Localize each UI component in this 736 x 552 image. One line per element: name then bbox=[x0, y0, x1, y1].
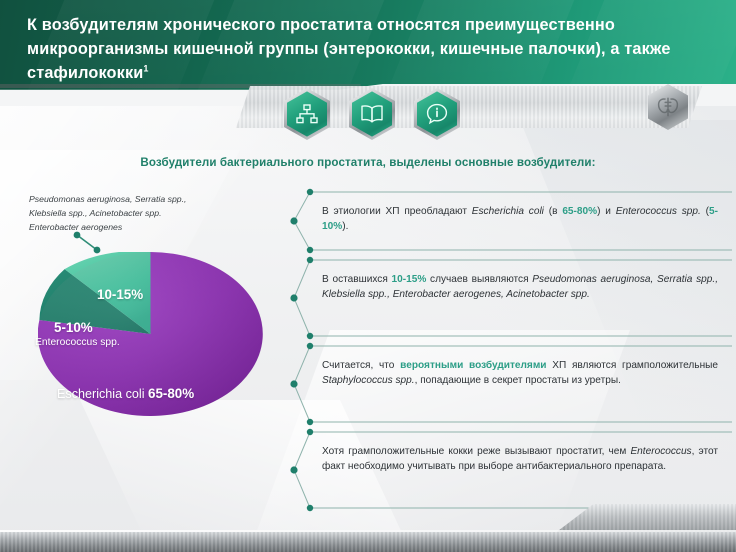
book-icon[interactable] bbox=[349, 88, 395, 140]
pie-legend: Pseudomonas aeruginosa, Serratia spp., K… bbox=[29, 192, 261, 235]
slide-root: К возбудителям хронического простатита о… bbox=[0, 0, 736, 552]
pie-label-enterococcus-name: Enterococcus spp. bbox=[35, 337, 120, 348]
pie-label-enterococcus: 5-10% bbox=[54, 320, 93, 335]
pie-label-ecoli: Escherichia coli 65-80% bbox=[57, 386, 194, 401]
callout-text-run: ( bbox=[701, 206, 709, 217]
pie-label-ecoli-value: 65-80% bbox=[148, 386, 194, 401]
header-banner: К возбудителям хронического простатита о… bbox=[0, 0, 736, 95]
callout-text: Считается, что вероятными возбудителями … bbox=[322, 358, 718, 389]
callout-text-run: 65-80% bbox=[562, 206, 597, 217]
callout-text-run: Enterococcus bbox=[630, 446, 691, 457]
pie-label-ecoli-name: Escherichia coli bbox=[57, 387, 145, 401]
footnote-marker: 1 bbox=[143, 63, 148, 73]
callout-text-run: Staphylococcus spp. bbox=[322, 375, 415, 386]
legend-line-2: Klebsiella spp., Acinetobacter spp. bbox=[29, 206, 261, 220]
callout-text: В оставшихся 10-15% случаев выявляются P… bbox=[322, 272, 718, 303]
page-title: К возбудителям хронического простатита о… bbox=[27, 14, 687, 86]
callout-text-run: Хотя грамположительные кокки реже вызыва… bbox=[322, 446, 630, 457]
callout-text-run: Считается, что bbox=[322, 360, 400, 371]
callout-text-run: 10-15% bbox=[392, 274, 427, 285]
legend-line-3: Enterobacter aerogenes bbox=[29, 220, 261, 234]
legend-line-1: Pseudomonas aeruginosa, Serratia spp., bbox=[29, 192, 261, 206]
callout-text-run: вероятными возбудителями bbox=[400, 360, 546, 371]
callout-text-run: , попадающие в секрет простаты из уретры… bbox=[415, 375, 621, 386]
callout-text-run: Escherichia coli bbox=[472, 206, 544, 217]
kidney-icon bbox=[648, 84, 688, 130]
callout-text-run: ) и bbox=[597, 206, 616, 217]
callout-text: В этиологии ХП преобладают Escherichia c… bbox=[322, 204, 718, 235]
sitemap-icon[interactable] bbox=[284, 88, 330, 140]
info-bubble-icon[interactable] bbox=[414, 88, 460, 140]
callout-text-run: ). bbox=[342, 221, 348, 232]
callout-text-run: ХП являются грамположительные bbox=[547, 360, 719, 371]
pie-label-others: 10-15% bbox=[97, 287, 143, 302]
callout-text-run: (в bbox=[544, 206, 562, 217]
callout-text-run: случаев выявляются bbox=[426, 274, 532, 285]
footer-bar bbox=[0, 532, 736, 552]
chart-subtitle: Возбудители бактериального простатита, в… bbox=[0, 156, 736, 169]
callout-text-run: В оставшихся bbox=[322, 274, 392, 285]
callout-text: Хотя грамположительные кокки реже вызыва… bbox=[322, 444, 718, 475]
callout-text-run: Enterococcus spp. bbox=[616, 206, 701, 217]
page-title-text: К возбудителям хронического простатита о… bbox=[27, 16, 671, 82]
callout-text-run: В этиологии ХП преобладают bbox=[322, 206, 472, 217]
